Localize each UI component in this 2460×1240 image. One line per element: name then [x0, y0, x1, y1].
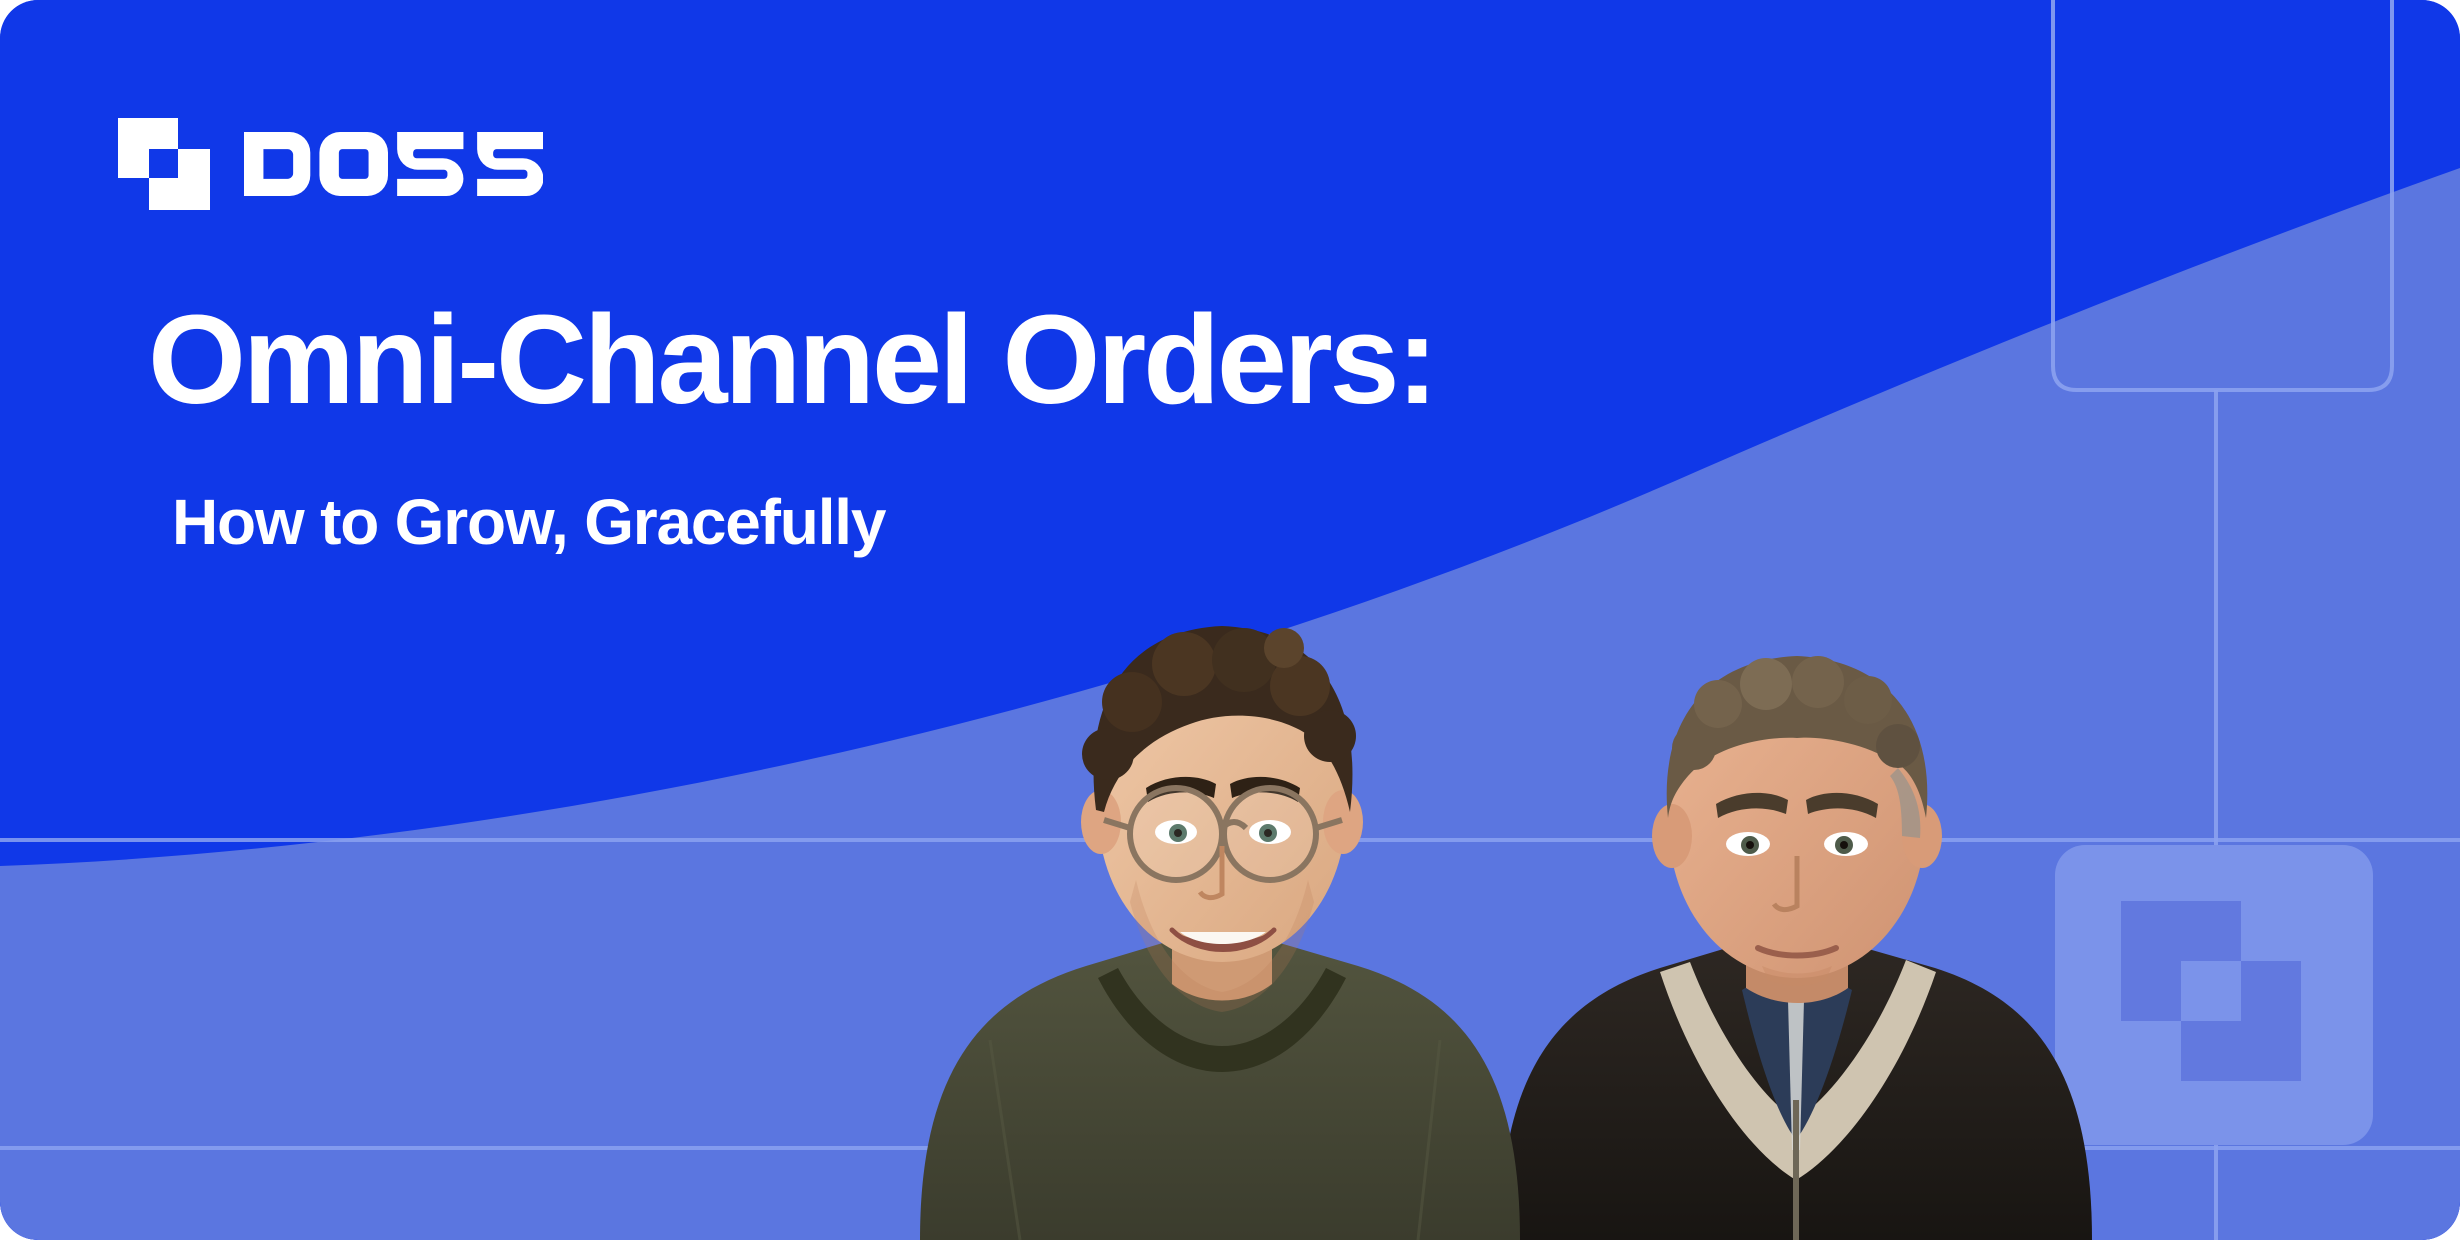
page-title: Omni-Channel Orders:	[148, 296, 1908, 425]
banner-content: Omni-Channel Orders: How to Grow, Gracef…	[0, 0, 2460, 1240]
webinar-banner: Omni-Channel Orders: How to Grow, Gracef…	[0, 0, 2460, 1240]
brand-lockup	[118, 118, 543, 210]
headline-block: Omni-Channel Orders: How to Grow, Gracef…	[148, 296, 1908, 557]
logo-square-overlap-knockout	[149, 149, 178, 178]
doss-logo-icon	[118, 118, 210, 210]
page-subtitle: How to Grow, Gracefully	[148, 487, 1908, 557]
doss-wordmark	[244, 132, 543, 196]
